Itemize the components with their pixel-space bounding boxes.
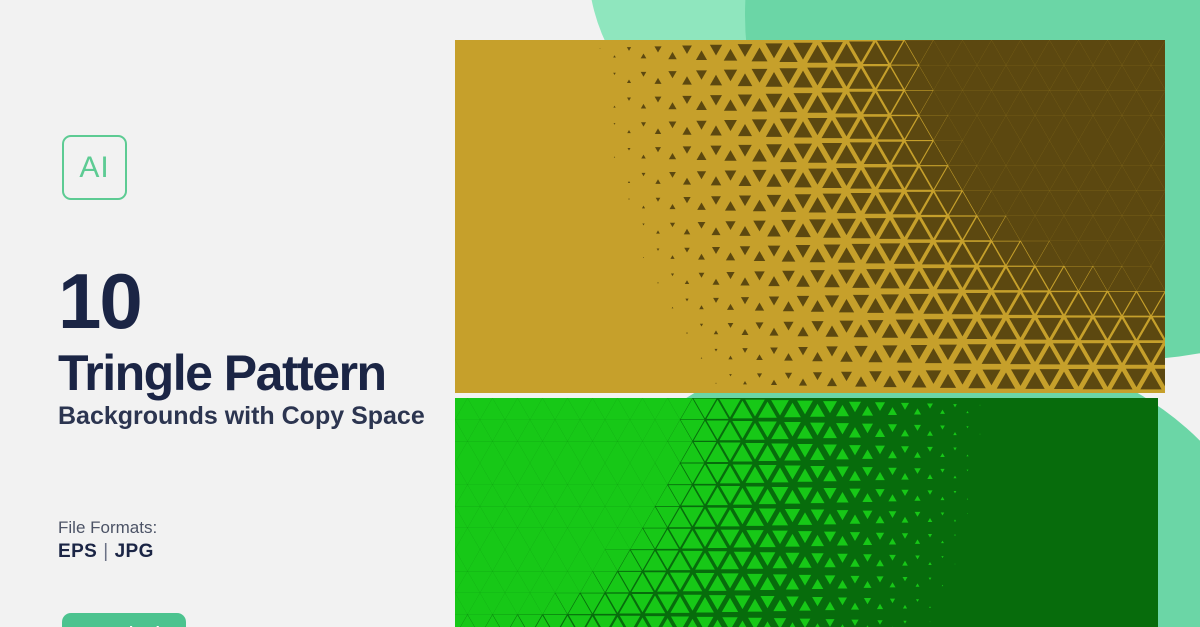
promo-banner-stage: AI 10 Tringle Pattern Backgrounds with C… [0, 0, 1200, 627]
gold-triangle-pattern [455, 40, 1165, 393]
download-button[interactable]: Download [62, 613, 186, 627]
format-jpg: JPG [115, 541, 154, 562]
preview-gold-triangle-banner[interactable] [455, 40, 1165, 393]
preview-green-triangle-banner[interactable] [455, 398, 1158, 627]
copy-panel: AI 10 Tringle Pattern Backgrounds with C… [0, 0, 455, 627]
item-count: 10 [58, 262, 141, 340]
green-triangle-pattern [455, 398, 1158, 627]
ai-file-format-badge: AI [62, 135, 127, 200]
format-separator: | [97, 541, 114, 562]
file-formats-label: File Formats: [58, 518, 157, 538]
page-title: Tringle Pattern [58, 348, 386, 398]
page-subtitle: Backgrounds with Copy Space [58, 400, 438, 432]
format-eps: EPS [58, 541, 97, 562]
file-formats-value: EPS|JPG [58, 541, 154, 563]
ai-badge-label: AI [79, 153, 109, 183]
